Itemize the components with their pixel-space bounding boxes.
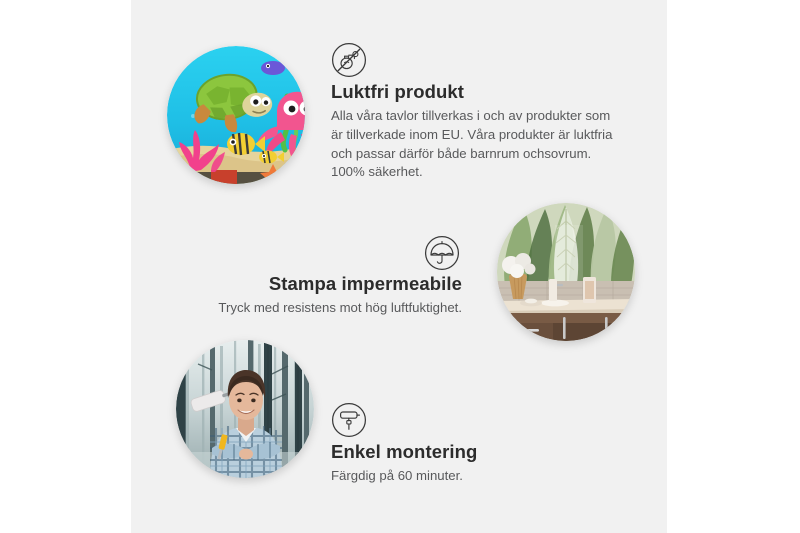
feature-odourless-title: Luktfri produkt [331,80,619,103]
feature-odourless-description: Alla våra tavlor tillverkas i och av pro… [331,107,619,182]
feature-waterproof-description: Tryck med resistens mot hög luftfuktighe… [201,299,462,318]
feature-waterproof-title: Stampa impermeabile [201,272,462,295]
feature-easy-mounting-text: Enkel montering Färgdig på 60 minuter. [331,440,591,486]
feature-odourless-text: Luktfri produkt Alla våra tavlor tillver… [331,80,619,182]
paint-roller-icon [331,402,367,438]
feature-easy-mounting-title: Enkel montering [331,440,591,463]
no-odour-spray-icon [331,42,367,78]
umbrella-icon [424,235,460,271]
feature-waterproof-text: Stampa impermeabile Tryck med resistens … [201,272,462,318]
photo-bathroom-leaf-wallpaper [497,203,635,341]
promo-panel-page: Luktfri produkt Alla våra tavlor tillver… [0,0,800,533]
feature-easy-mounting-description: Färgdig på 60 minuter. [331,467,591,486]
photo-painter-forest-mural [176,340,314,478]
